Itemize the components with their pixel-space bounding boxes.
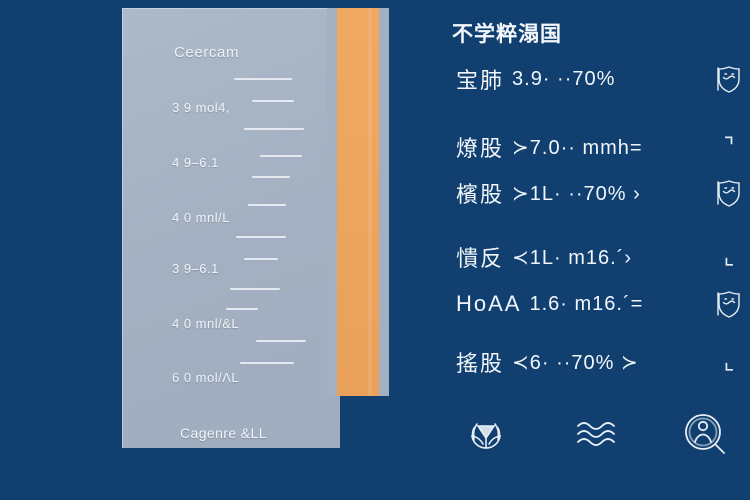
- bar-highlight: [368, 8, 372, 396]
- tick-mark: [244, 258, 278, 260]
- tick-mark: [256, 340, 306, 342]
- card-row-label: 6 0 mol/ΛL: [172, 370, 239, 385]
- tick-mark: [260, 155, 302, 157]
- card-row-label: 4 0 mnl/&L: [172, 316, 239, 331]
- bracket-bottom-left[interactable]: ⌞: [712, 240, 746, 274]
- entry-value: ≺1L· m16.´›: [512, 245, 632, 270]
- screen-root: Ceercam 3 9 mol4,4 9–6.14 0 mnl/L3 9–6.1…: [0, 0, 750, 500]
- panel-title: 不学粹溻国: [452, 18, 562, 48]
- card-title: Ceercam: [174, 44, 239, 61]
- person-magnifier-icon[interactable]: [674, 404, 738, 468]
- readout-entry: HоAA1.6· m16.´=: [456, 287, 746, 321]
- water-waves-icon[interactable]: [564, 404, 628, 468]
- entry-value: 1.6· m16.´=: [529, 293, 643, 316]
- entry-label: HоAA: [456, 291, 521, 317]
- tick-mark: [226, 308, 258, 310]
- entry-label: 搖股: [456, 346, 504, 378]
- entry-label: 檳股: [456, 177, 504, 209]
- measurement-card: Ceercam 3 9 mol4,4 9–6.14 0 mnl/L3 9–6.1…: [122, 8, 340, 448]
- card-row-label: 3 9–6.1: [172, 261, 219, 276]
- readout-entry: 宝肺3.9· ··70%: [456, 62, 746, 96]
- card-row-label: 4 9–6.1: [172, 155, 219, 170]
- entry-value: 3.9· ··70%: [512, 68, 615, 91]
- entry-label: 宝肺: [456, 63, 504, 95]
- tick-mark: [234, 78, 292, 80]
- shield-face-icon[interactable]: [712, 287, 746, 321]
- orange-indicator-bar: [337, 8, 379, 396]
- readout-entry: 搖股≺6· ··70% ≻⌞: [456, 345, 746, 379]
- tick-mark: [244, 128, 304, 130]
- entry-value: ≻1L· ··70% ›: [512, 181, 641, 206]
- tick-mark: [252, 100, 294, 102]
- laurel-trophy-icon[interactable]: [454, 404, 518, 468]
- entry-label: 燎股: [456, 131, 504, 163]
- card-row-label: 3 9 mol4,: [172, 100, 230, 115]
- tick-mark: [248, 204, 286, 206]
- entry-label: 憒反: [456, 241, 504, 273]
- shield-face-icon[interactable]: [712, 176, 746, 210]
- tick-mark: [252, 176, 290, 178]
- tick-mark: [236, 236, 286, 238]
- readout-entry: 憒反≺1L· m16.´›⌞: [456, 240, 746, 274]
- bracket-bottom-left[interactable]: ⌞: [712, 345, 746, 379]
- readout-entry: 檳股≻1L· ··70% ›: [456, 176, 746, 210]
- entry-value: ≺6· ··70% ≻: [512, 350, 639, 375]
- card-footer-label: Cagenre &LL: [180, 425, 267, 441]
- card-row-label: 4 0 mnl/L: [172, 210, 230, 225]
- tick-mark: [230, 288, 280, 290]
- tick-mark: [240, 362, 294, 364]
- entry-value: ≻7.0·· mmh=: [512, 135, 643, 160]
- bracket-top-left[interactable]: ⌝: [712, 130, 746, 164]
- readout-entry: 燎股≻7.0·· mmh=⌝: [456, 130, 746, 164]
- bottom-icon-bar: [448, 404, 750, 474]
- shield-face-icon[interactable]: [712, 62, 746, 96]
